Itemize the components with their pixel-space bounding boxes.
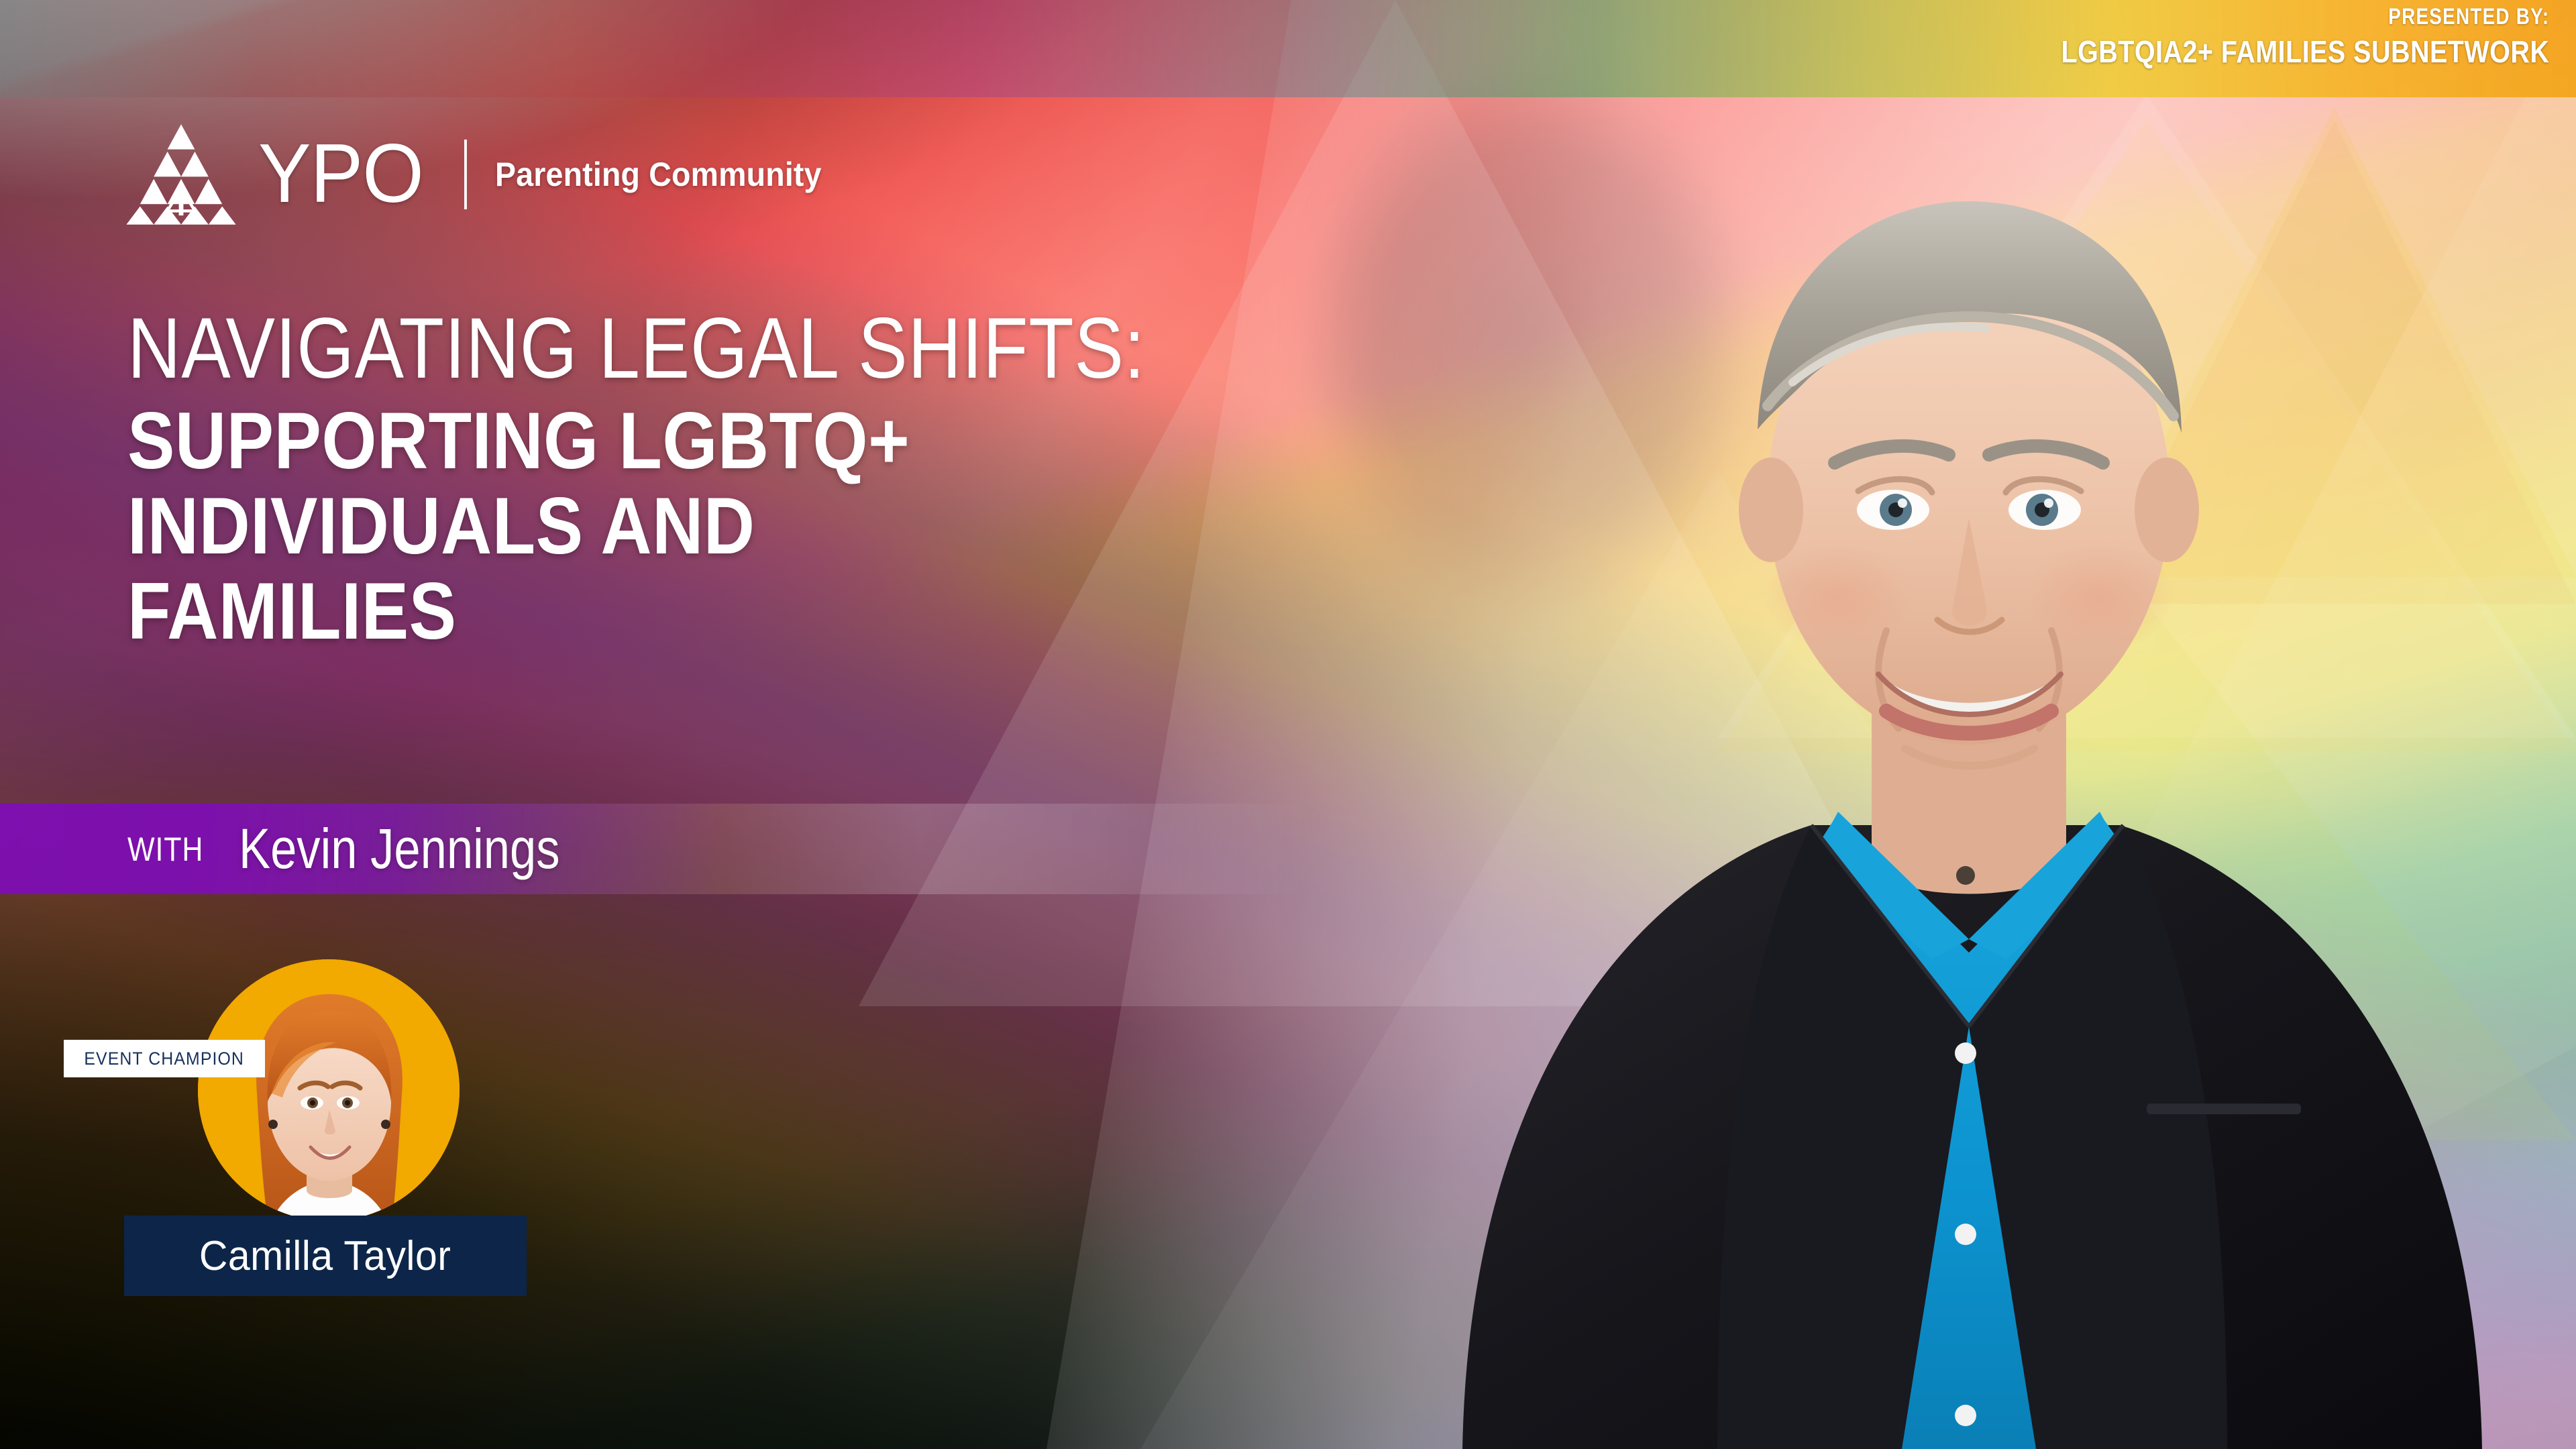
title-line-4: FAMILIES: [127, 569, 1169, 654]
ypo-wordmark: YPO: [258, 140, 423, 209]
title-line-2: SUPPORTING LGBTQ+: [127, 398, 1169, 484]
event-promo-banner: PRESENTED BY: LGBTQIA2+ FAMILIES SUBNETW…: [0, 0, 2576, 1449]
presenter-name: LGBTQIA2+ FAMILIES SUBNETWORK: [2061, 36, 2549, 67]
title-line-1: NAVIGATING LEGAL SHIFTS:: [127, 305, 1145, 393]
champion-role-label: EVENT CHAMPION: [85, 1049, 245, 1069]
champion-name: Camilla Taylor: [199, 1232, 451, 1280]
logo-divider: [464, 140, 467, 209]
ypo-triangle-logo-icon: [124, 121, 238, 228]
camilla-taylor-headshot-icon: [198, 959, 460, 1221]
community-label: Parenting Community: [495, 155, 822, 194]
event-title: NAVIGATING LEGAL SHIFTS: SUPPORTING LGBT…: [127, 305, 1311, 654]
speaker-name: Kevin Jennings: [239, 816, 560, 881]
event-champion-block: Camilla Taylor: [124, 959, 553, 1221]
title-line-3: INDIVIDUALS AND: [127, 484, 1169, 569]
speaker-with-label: WITH: [127, 830, 203, 869]
speaker-portrait: [1342, 67, 2576, 1449]
presented-by-block: PRESENTED BY: LGBTQIA2+ FAMILIES SUBNETW…: [1982, 5, 2549, 67]
speaker-band: WITH Kevin Jennings: [0, 804, 1315, 894]
avatar: [198, 959, 460, 1221]
ypo-logo-lockup[interactable]: YPO Parenting Community: [124, 124, 846, 225]
champion-name-band: Camilla Taylor: [124, 1216, 527, 1296]
presented-by-label: PRESENTED BY:: [2084, 5, 2549, 28]
champion-role-badge: EVENT CHAMPION: [64, 1040, 265, 1077]
